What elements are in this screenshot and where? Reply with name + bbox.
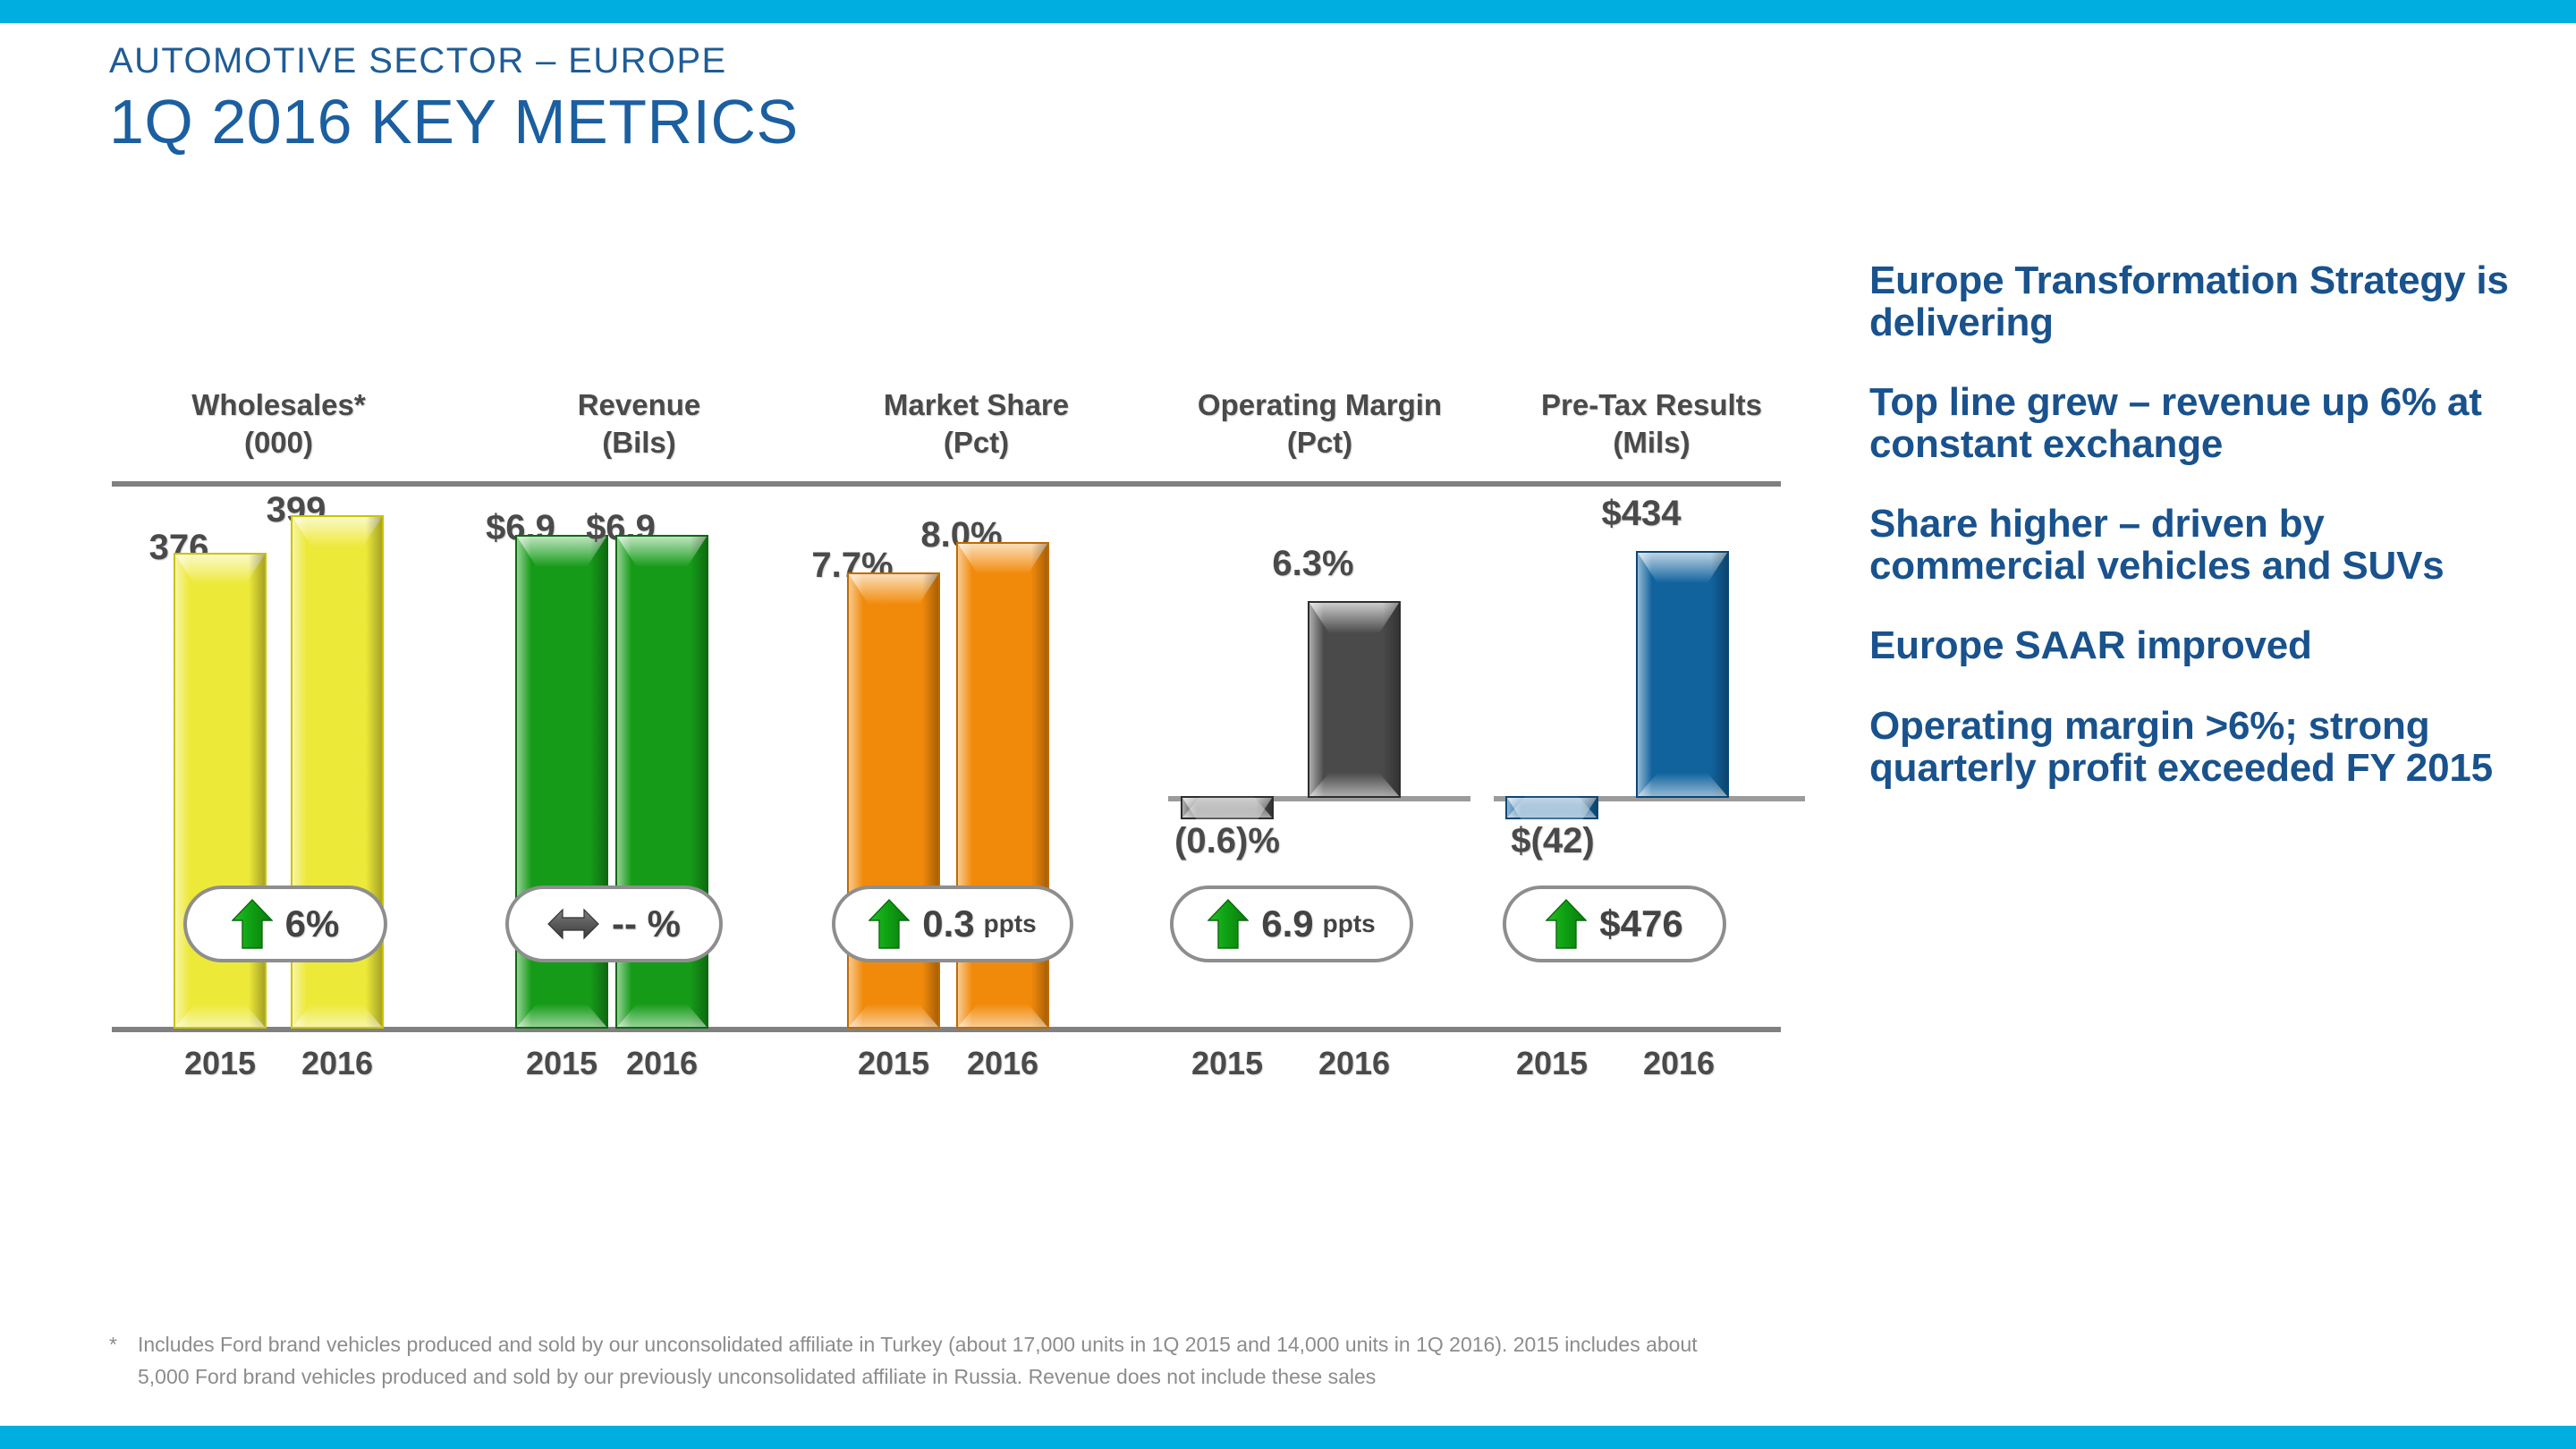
- takeaway-item: Share higher – driven by commercial vehi…: [1869, 503, 2531, 587]
- key-takeaways-list: Europe Transformation Strategy is delive…: [1869, 259, 2531, 826]
- column-header-wholesales: Wholesales* (000): [112, 386, 445, 462]
- column-header-name: Pre-Tax Results: [1485, 386, 1818, 424]
- bar-value-label: $(42): [1459, 821, 1647, 861]
- column-header-unit: (Bils): [472, 424, 806, 462]
- delta-badge-pre-tax-results: $476: [1503, 885, 1726, 962]
- bar-value-label: $434: [1556, 494, 1726, 534]
- x-tick-label: 2016: [1594, 1045, 1764, 1082]
- header-divider-rule: [112, 481, 1781, 487]
- footnote-text: Includes Ford brand vehicles produced an…: [138, 1329, 1737, 1393]
- delta-value: 6.9: [1261, 902, 1313, 945]
- footnote: * Includes Ford brand vehicles produced …: [109, 1329, 1737, 1393]
- x-axis-year-labels: 2015 2016 2015 2016 2015 2016 2015 2016 …: [0, 1045, 1789, 1098]
- bottom-accent-band: [0, 1426, 2576, 1449]
- column-header-unit: (Mils): [1485, 424, 1818, 462]
- arrow-up-icon: [1207, 899, 1249, 949]
- takeaway-item: Top line grew – revenue up 6% at constan…: [1869, 381, 2531, 465]
- column-header-name: Wholesales*: [112, 386, 445, 424]
- bar-operating-margin-2015: [1181, 796, 1274, 819]
- bar-value-label: (0.6)%: [1133, 821, 1321, 861]
- delta-value: 6%: [285, 902, 340, 945]
- arrow-left-right-icon: [547, 905, 599, 943]
- metrics-bar-chart: Wholesales* (000) Revenue (Bils) Market …: [0, 0, 1789, 1163]
- arrow-up-icon: [869, 899, 910, 949]
- column-header-market-share: Market Share (Pct): [809, 386, 1143, 462]
- x-tick-label: 2016: [577, 1045, 747, 1082]
- arrow-up-icon: [232, 899, 273, 949]
- delta-value: 0.3: [922, 902, 974, 945]
- bar-pre-tax-2016: [1636, 551, 1729, 798]
- takeaway-item: Operating margin >6%; strong quarterly p…: [1869, 705, 2531, 789]
- bar-group-pre-tax-results: $(42) $434 $476: [1333, 501, 1789, 1029]
- column-header-name: Operating Margin: [1143, 386, 1496, 424]
- delta-value: $476: [1599, 902, 1682, 945]
- column-header-unit: (000): [112, 424, 445, 462]
- x-tick-label: 2016: [1269, 1045, 1439, 1082]
- column-header-revenue: Revenue (Bils): [472, 386, 806, 462]
- arrow-up-icon: [1546, 899, 1587, 949]
- column-header-unit: (Pct): [1143, 424, 1496, 462]
- bar-pre-tax-2015: [1505, 796, 1598, 819]
- x-tick-label: 2016: [918, 1045, 1088, 1082]
- delta-value: -- %: [612, 902, 681, 945]
- column-header-name: Revenue: [472, 386, 806, 424]
- x-tick-label: 2016: [252, 1045, 422, 1082]
- footnote-marker: *: [109, 1329, 117, 1361]
- takeaway-item: Europe SAAR improved: [1869, 624, 2531, 666]
- column-header-pre-tax-results: Pre-Tax Results (Mils): [1485, 386, 1818, 462]
- column-header-unit: (Pct): [809, 424, 1143, 462]
- takeaway-item: Europe Transformation Strategy is delive…: [1869, 259, 2531, 343]
- column-header-name: Market Share: [809, 386, 1143, 424]
- column-header-operating-margin: Operating Margin (Pct): [1143, 386, 1496, 462]
